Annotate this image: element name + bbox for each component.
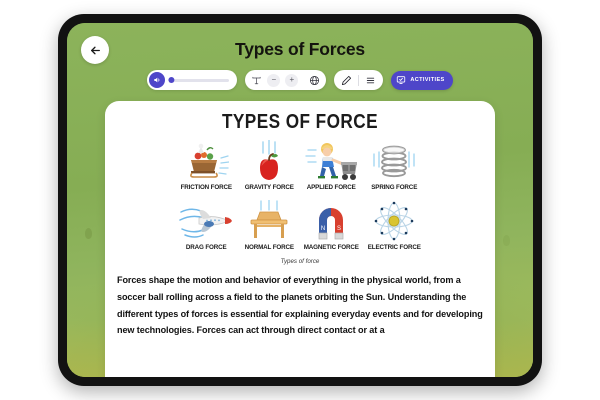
activities-label: ACTIVITIES <box>410 77 444 83</box>
force-item: ELECTRIC FORCE <box>363 200 426 251</box>
background-tree-icon <box>85 228 92 239</box>
back-button[interactable] <box>81 36 109 64</box>
falling-apple-icon <box>238 140 301 184</box>
audio-progress-slider[interactable] <box>169 79 229 82</box>
text-settings-control: − + <box>245 70 326 90</box>
tablet-frame: Types of Forces <box>58 14 542 386</box>
force-item: SPRING FORCE <box>363 140 426 191</box>
lesson-body-text: Forces shape the motion and behavior of … <box>117 272 483 339</box>
forces-infographic: TYPES OF FORCE <box>105 101 495 251</box>
tablet-screen: Types of Forces <box>67 23 533 377</box>
force-item: APPLIED FORCE <box>300 140 363 191</box>
audio-play-button[interactable] <box>149 72 165 88</box>
force-item: NORMAL FORCE <box>238 200 301 251</box>
globe-icon[interactable] <box>309 75 320 86</box>
force-item: N S MAGNETIC FORCE <box>300 200 363 251</box>
forces-grid-row-2: DRAG FORCE <box>175 200 425 251</box>
boy-pushing-cart-icon <box>300 140 363 184</box>
force-label: NORMAL FORCE <box>239 244 298 251</box>
lesson-content-card[interactable]: TYPES OF FORCE <box>105 101 495 377</box>
annotation-tools-control <box>334 70 383 90</box>
forces-grid-row-1: FRICTION FORCE <box>175 140 425 191</box>
figure-caption: Types of force <box>105 258 495 265</box>
highlighter-pen-icon[interactable] <box>341 75 352 86</box>
force-label: DRAG FORCE <box>177 244 236 251</box>
force-item: DRAG FORCE <box>175 200 238 251</box>
force-item: GRAVITY FORCE <box>238 140 301 191</box>
audio-slider-thumb[interactable] <box>169 77 175 83</box>
list-lines-icon[interactable] <box>365 75 376 86</box>
toolbar: − + <box>67 70 533 90</box>
force-item: FRICTION FORCE <box>175 140 238 191</box>
arrow-left-icon <box>89 44 102 57</box>
table-with-box-icon <box>238 200 301 244</box>
background-tree-icon <box>503 235 510 246</box>
infographic-title: TYPES OF FORCE <box>132 111 467 134</box>
force-label: APPLIED FORCE <box>302 184 361 191</box>
horseshoe-magnet-icon: N S <box>300 200 363 244</box>
force-label: SPRING FORCE <box>364 184 423 191</box>
speaker-volume-icon <box>153 76 161 84</box>
svg-text:S: S <box>337 226 341 232</box>
atom-electrons-icon <box>363 200 426 244</box>
force-label: FRICTION FORCE <box>177 184 236 191</box>
toolbar-divider <box>358 75 359 86</box>
decrease-text-size-button[interactable]: − <box>267 74 280 87</box>
audio-player-control <box>147 70 237 90</box>
increase-text-size-button[interactable]: + <box>285 74 298 87</box>
airplane-with-airflow-icon <box>175 200 238 244</box>
force-label: ELECTRIC FORCE <box>364 244 423 251</box>
activities-button[interactable]: ACTIVITIES <box>391 71 452 90</box>
svg-text:N: N <box>321 226 325 232</box>
force-label: MAGNETIC FORCE <box>302 244 361 251</box>
monitor-check-icon <box>396 75 406 85</box>
coil-spring-icon <box>363 140 426 184</box>
sled-on-snow-icon <box>175 140 238 184</box>
force-label: GRAVITY FORCE <box>239 184 298 191</box>
page-title: Types of Forces <box>67 39 533 60</box>
text-format-T-icon[interactable] <box>251 75 262 86</box>
